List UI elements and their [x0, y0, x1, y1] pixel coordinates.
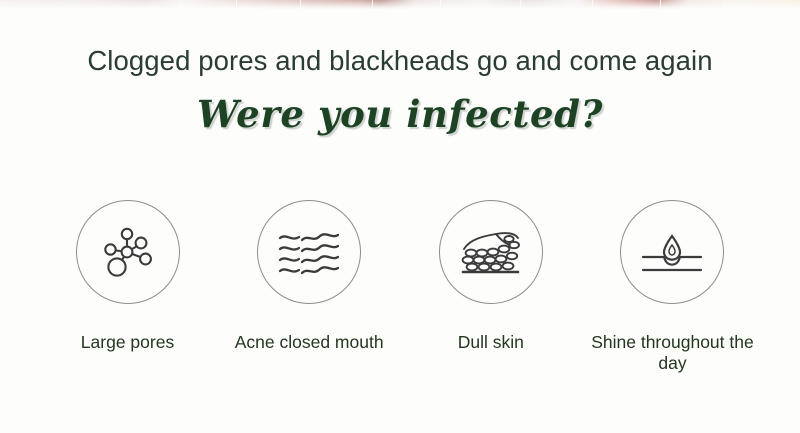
- feature-label: Shine throughout the day: [585, 332, 760, 374]
- oil-droplet-icon: [641, 231, 703, 273]
- icon-circle: [257, 200, 361, 304]
- promo-banner: Clogged pores and blackheads go and come…: [0, 0, 800, 433]
- page-subtitle: Were you infected?: [0, 89, 800, 139]
- wavy-lines-icon: [278, 229, 340, 275]
- connected-pores-icon: [99, 223, 157, 281]
- page-title: Clogged pores and blackheads go and come…: [0, 44, 800, 78]
- feature-label: Large pores: [81, 332, 174, 353]
- feature-list: Large pores Acne clo: [40, 200, 760, 374]
- feature-item-acne-closed-mouth: Acne closed mouth: [222, 200, 397, 353]
- feature-item-shine-all-day: Shine throughout the day: [585, 200, 760, 374]
- icon-circle: [76, 200, 180, 304]
- feature-label: Dull skin: [458, 332, 524, 353]
- feature-item-dull-skin: Dull skin: [403, 200, 578, 353]
- top-photo-strip: [0, 0, 800, 9]
- feature-item-large-pores: Large pores: [40, 200, 215, 353]
- skin-cells-layer-icon: [460, 230, 522, 274]
- icon-circle: [439, 200, 543, 304]
- feature-label: Acne closed mouth: [235, 332, 384, 353]
- icon-circle: [620, 200, 724, 304]
